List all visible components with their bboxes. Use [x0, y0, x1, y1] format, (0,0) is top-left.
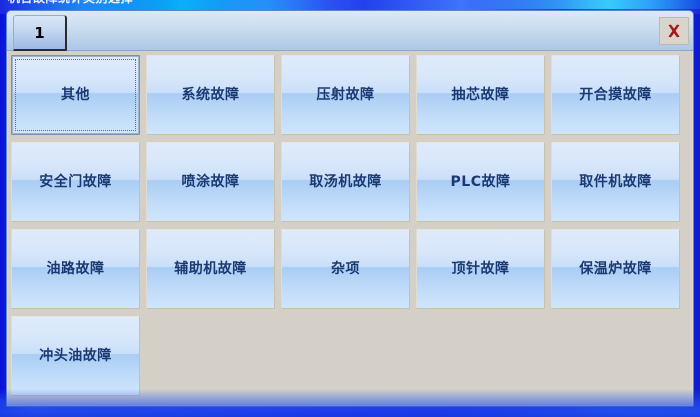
fault-button-label: 抽芯故障 [452, 88, 510, 102]
tab-strip: 1 [7, 11, 693, 51]
fault-button-qujianji-guzhang[interactable]: 取件机故障 [551, 142, 680, 222]
fault-button-row: 安全门故障 喷涂故障 取汤机故障 PLC故障 取件机故障 [11, 142, 691, 222]
fault-button-label: 开合摸故障 [579, 88, 652, 102]
close-button[interactable] [659, 17, 689, 45]
tab-page-1[interactable]: 1 [13, 15, 67, 51]
close-icon [665, 22, 683, 40]
fault-button-label: 安全门故障 [39, 175, 112, 189]
fault-category-dialog: 1 其他 系统故障 压射故障 抽芯故障 [6, 10, 694, 407]
fault-button-anquanmen-guzhang[interactable]: 安全门故障 [11, 142, 140, 222]
wallpaper-highlight-bottom-left [0, 399, 300, 417]
fault-button-label: 取件机故障 [579, 175, 652, 189]
wallpaper-highlight-bottom-right [440, 401, 700, 417]
fault-button-label: 保温炉故障 [579, 262, 652, 276]
fault-button-xitong-guzhang[interactable]: 系统故障 [146, 55, 275, 135]
fault-button-grid: 其他 系统故障 压射故障 抽芯故障 开合摸故障 安全门故障 [11, 55, 691, 404]
fault-button-row: 其他 系统故障 压射故障 抽芯故障 开合摸故障 [11, 55, 691, 135]
fault-button-pentu-guzhang[interactable]: 喷涂故障 [146, 142, 275, 222]
fault-button-label: 杂项 [331, 262, 360, 276]
window-title-clipped: 机台故障统计类别选择 [8, 0, 133, 5]
fault-button-zaxiang[interactable]: 杂项 [281, 229, 410, 309]
fault-button-yashe-guzhang[interactable]: 压射故障 [281, 55, 410, 135]
fault-button-label: 取汤机故障 [309, 175, 382, 189]
fault-button-chouxin-guzhang[interactable]: 抽芯故障 [416, 55, 545, 135]
fault-button-plc-guzhang[interactable]: PLC故障 [416, 142, 545, 222]
fault-button-label: 辅助机故障 [174, 262, 247, 276]
fault-button-row: 油路故障 辅助机故障 杂项 顶针故障 保温炉故障 [11, 229, 691, 309]
fault-button-fuzhuji-guzhang[interactable]: 辅助机故障 [146, 229, 275, 309]
tab-page-1-label: 1 [34, 24, 44, 42]
fault-button-label: 油路故障 [47, 262, 105, 276]
fault-button-label: 其他 [61, 88, 90, 102]
fault-button-qutangji-guzhang[interactable]: 取汤机故障 [281, 142, 410, 222]
fault-button-qita[interactable]: 其他 [11, 55, 140, 135]
fault-button-row: 冲头油故障 [11, 316, 691, 396]
wallpaper-highlight-top-right [470, 0, 700, 9]
fault-button-label: 喷涂故障 [182, 175, 240, 189]
fault-button-youlu-guzhang[interactable]: 油路故障 [11, 229, 140, 309]
desktop-background: 机台故障统计类别选择 1 其他 系统故障 压射 [0, 0, 700, 417]
fault-button-label: 顶针故障 [452, 262, 510, 276]
fault-button-label: 压射故障 [317, 88, 375, 102]
fault-button-chongtouyou-guzhang[interactable]: 冲头油故障 [11, 316, 140, 396]
fault-button-label: 冲头油故障 [39, 349, 112, 363]
fault-button-label: 系统故障 [182, 88, 240, 102]
fault-button-label: PLC故障 [451, 175, 511, 189]
fault-button-dingzhen-guzhang[interactable]: 顶针故障 [416, 229, 545, 309]
fault-button-kaihemo-guzhang[interactable]: 开合摸故障 [551, 55, 680, 135]
fault-button-baowenlu-guzhang[interactable]: 保温炉故障 [551, 229, 680, 309]
